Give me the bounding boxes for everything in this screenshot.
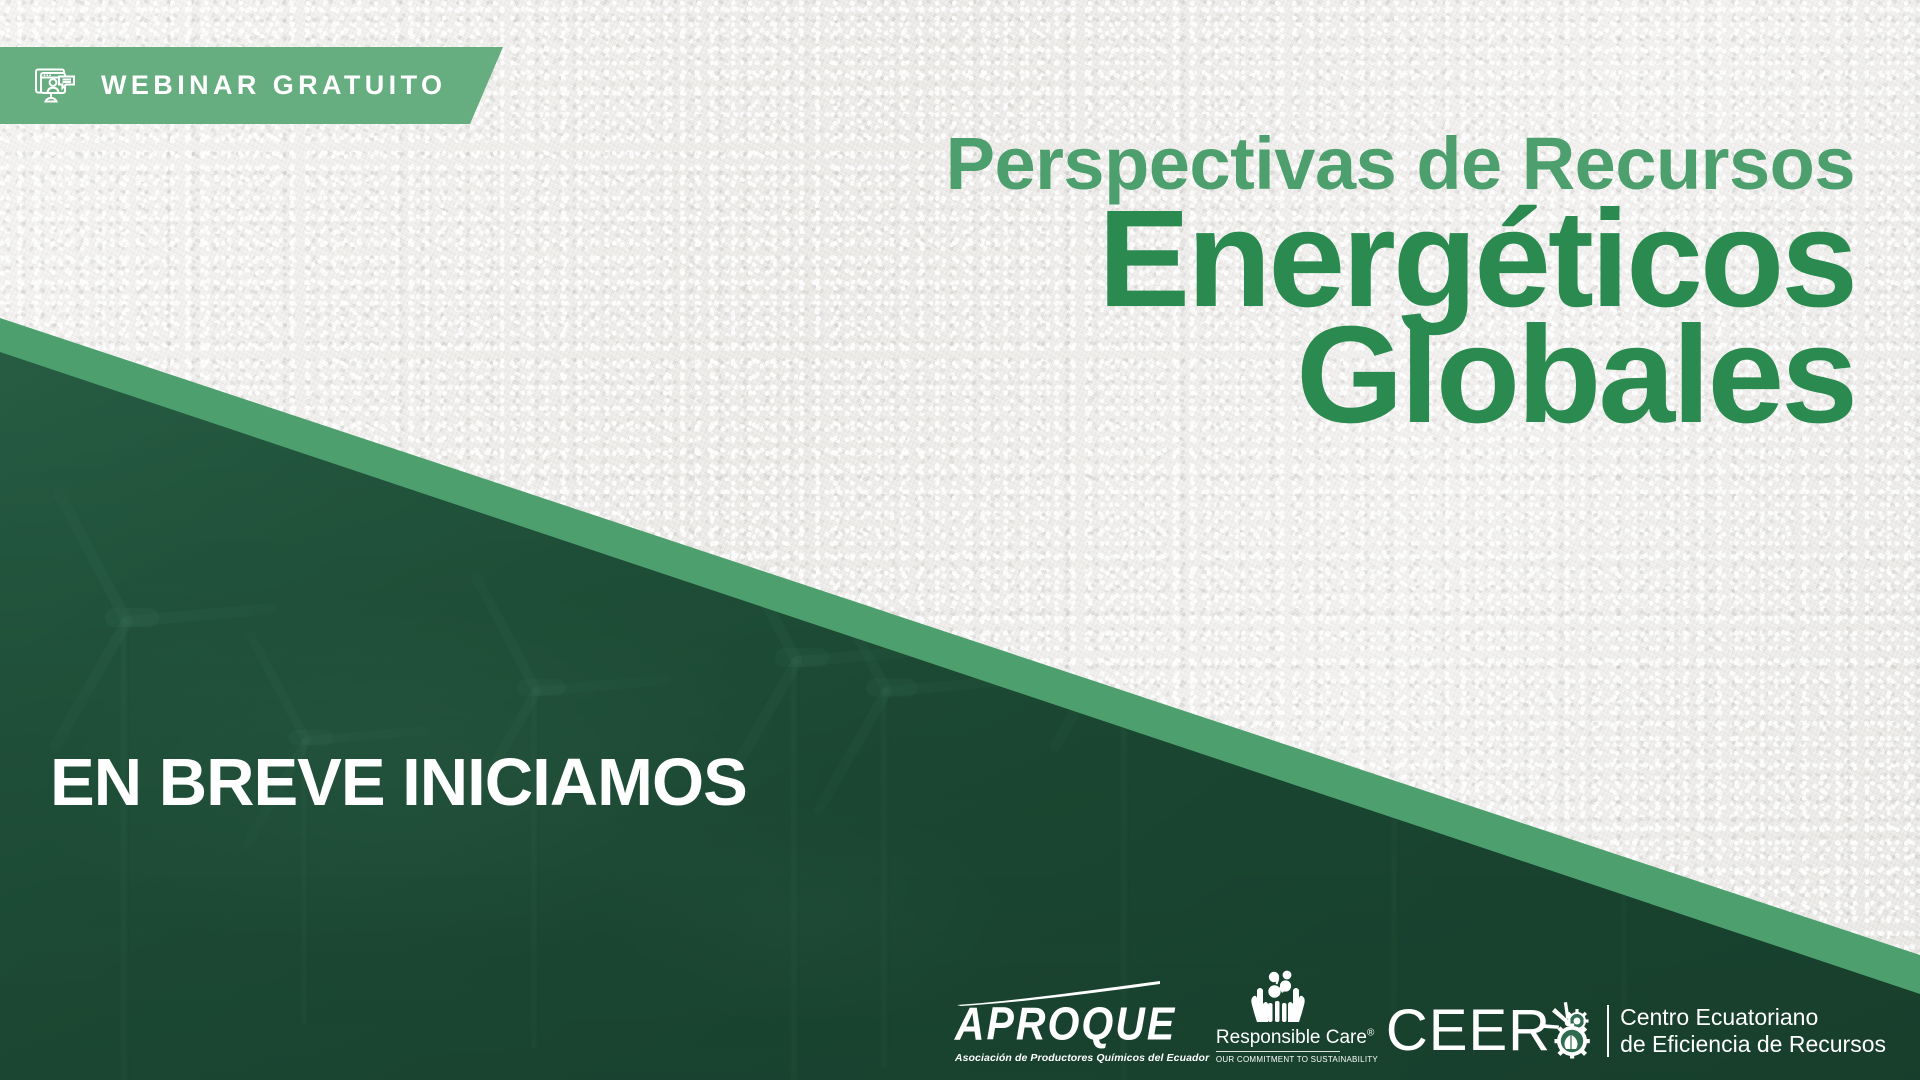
ceer-tagline: Centro Ecuatoriano de Eficiencia de Recu… (1620, 1004, 1886, 1057)
responsible-care-logo: Responsible Care® OUR COMMITMENT TO SUST… (1216, 970, 1340, 1066)
ceer-logo: CEER (1386, 1000, 1886, 1066)
webinar-screen-icon (33, 66, 77, 106)
logo-row: APROQUE Asociación de Productores Químic… (955, 970, 1886, 1066)
ceer-gear-turbine-icon (1537, 1000, 1599, 1062)
responsible-care-wordmark: Responsible Care® (1216, 1028, 1340, 1047)
ribbon-label: WEBINAR GRATUITO (101, 70, 446, 101)
aproque-wordmark: APROQUE (955, 1002, 1170, 1048)
headline-text: EN BREVE INICIAMOS (50, 744, 747, 821)
title-line-3: Globales (946, 316, 1855, 435)
webinar-ribbon: WEBINAR GRATUITO (0, 47, 503, 124)
slide-canvas: WEBINAR GRATUITO Perspectivas de Recurso… (0, 0, 1920, 1080)
ceer-divider (1607, 1005, 1609, 1057)
title-block: Perspectivas de Recursos Energéticos Glo… (946, 128, 1855, 435)
hands-molecule-icon (1241, 970, 1315, 1024)
aproque-tagline: Asociación de Productores Químicos del E… (955, 1052, 1170, 1064)
ceer-wordmark: CEER (1386, 1004, 1551, 1057)
aproque-logo: APROQUE Asociación de Productores Químic… (955, 981, 1170, 1066)
responsible-care-tagline: OUR COMMITMENT TO SUSTAINABILITY (1216, 1051, 1340, 1064)
